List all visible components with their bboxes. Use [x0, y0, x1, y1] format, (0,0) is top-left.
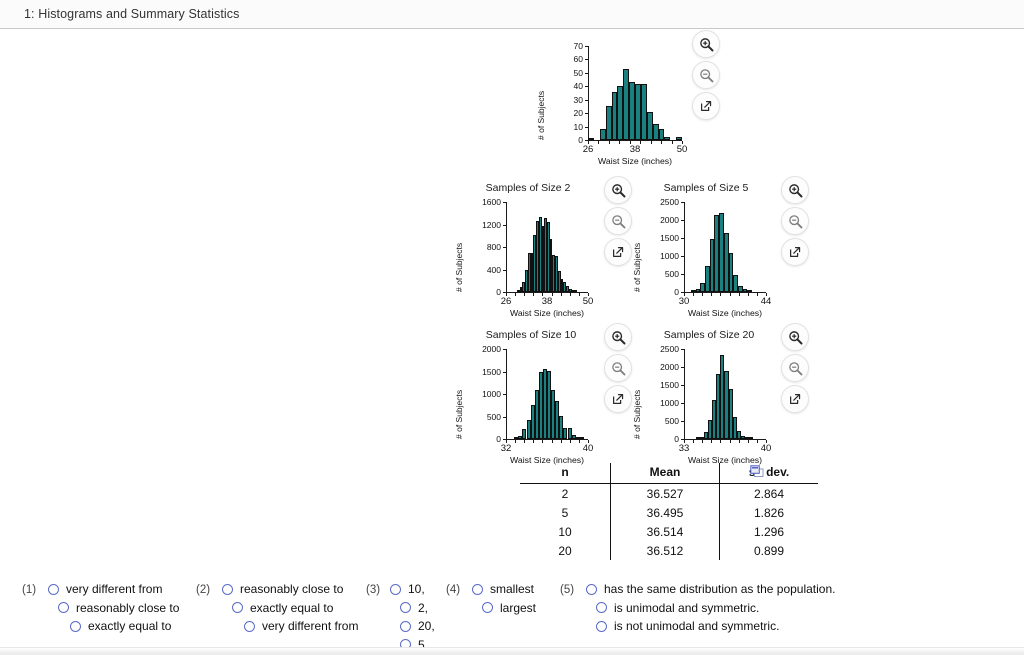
histogram-bar	[641, 84, 647, 140]
x-tick-label: 30	[679, 296, 690, 307]
cell-n: 10	[520, 522, 611, 541]
histogram-bar	[705, 266, 710, 292]
y-tick-label: 500	[642, 269, 679, 279]
chart-bars	[506, 202, 588, 292]
cell-n: 2	[520, 484, 611, 504]
x-tick	[748, 440, 749, 443]
histogram-bar	[716, 374, 720, 439]
y-tick	[585, 140, 588, 141]
y-tick-label: 20	[546, 108, 583, 118]
option-group-number: (5)	[560, 584, 574, 596]
x-axis-line	[684, 439, 766, 440]
x-tick	[506, 440, 507, 443]
option-item[interactable]: 2,	[390, 599, 435, 618]
option-label: is not unimodal and symmetric.	[614, 619, 779, 633]
radio-button[interactable]	[472, 584, 483, 595]
histogram-bar	[708, 420, 712, 439]
option-group-2: (2)reasonably close toexactly equal tove…	[196, 580, 358, 636]
y-tick	[503, 292, 506, 293]
x-axis-line	[588, 140, 682, 141]
option-item[interactable]: is not unimodal and symmetric.	[586, 617, 835, 636]
y-tick	[503, 247, 506, 248]
x-tick	[579, 293, 580, 296]
histogram-bar	[551, 390, 555, 439]
cell-mean: 36.527	[611, 484, 720, 504]
col-header-n: n	[520, 463, 611, 484]
y-tick-label: 0	[546, 135, 583, 145]
cell-n: 5	[520, 503, 611, 522]
x-tick-label: 26	[583, 144, 594, 155]
histogram-bar	[517, 290, 520, 292]
histogram-bar	[606, 106, 612, 140]
histogram-bar	[691, 290, 696, 292]
col-header-mean: Mean	[611, 463, 720, 484]
table-row: 536.4951.826	[520, 503, 818, 522]
x-tick-label: 33	[679, 443, 690, 454]
x-tick-label: 40	[583, 443, 594, 454]
option-label: smallest	[490, 582, 534, 596]
y-axis-label: # of Subjects	[454, 243, 464, 292]
chart-toolbar-samples_of_size_20	[781, 323, 809, 413]
x-tick	[515, 293, 516, 296]
x-tick	[515, 440, 516, 443]
histogram-bar	[617, 86, 623, 140]
y-tick-label: 1500	[642, 233, 679, 243]
histogram-bar	[528, 253, 531, 292]
y-tick-label: 50	[546, 68, 583, 78]
x-tick	[702, 293, 703, 296]
x-tick	[684, 293, 685, 296]
chart-bars	[684, 349, 766, 439]
option-label: very different from	[66, 582, 162, 596]
histogram-bar	[629, 82, 635, 140]
histogram-bar	[700, 437, 704, 439]
x-tick	[672, 141, 673, 144]
x-tick	[570, 293, 571, 296]
histogram-bar	[555, 256, 558, 292]
option-item[interactable]: very different from	[48, 580, 179, 599]
x-tick	[609, 141, 610, 144]
x-tick	[661, 141, 662, 144]
y-tick-label: 60	[546, 54, 583, 64]
y-tick-label: 70	[546, 41, 583, 51]
y-tick-label: 500	[642, 416, 679, 426]
radio-button[interactable]	[48, 584, 59, 595]
histogram-bar	[542, 226, 545, 292]
y-tick-label: 2500	[642, 197, 679, 207]
histogram-bar	[558, 271, 561, 292]
cell-n: 20	[520, 541, 611, 560]
option-label: reasonably close to	[76, 601, 179, 615]
popout-icon[interactable]	[781, 385, 809, 413]
option-label: 2,	[418, 601, 428, 615]
radio-button[interactable]	[232, 602, 243, 613]
x-tick	[630, 141, 631, 144]
x-tick	[598, 141, 599, 144]
x-axis-label: Waist Size (inches)	[558, 156, 712, 166]
histogram-bar	[574, 290, 577, 292]
histogram-bar	[563, 428, 567, 439]
x-tick-label: 32	[501, 443, 512, 454]
histogram-bar	[539, 372, 543, 439]
histogram-bar	[550, 239, 553, 292]
y-tick	[503, 270, 506, 271]
x-tick	[533, 440, 534, 443]
histogram-bar	[547, 371, 551, 439]
x-tick	[651, 141, 652, 144]
radio-button[interactable]	[58, 602, 69, 613]
x-tick	[766, 293, 767, 296]
option-label: 20,	[418, 619, 435, 633]
histogram-bar	[729, 389, 733, 439]
chart-title: Samples of Size 20	[640, 329, 778, 341]
option-item[interactable]: exactly equal to	[48, 617, 179, 636]
radio-button[interactable]	[482, 602, 493, 613]
option-group-number: (1)	[22, 584, 36, 596]
option-label: has the same distribution as the populat…	[604, 582, 835, 596]
x-axis-line	[506, 439, 588, 440]
option-list: smallestlargest	[472, 580, 536, 617]
y-tick	[585, 127, 588, 128]
y-tick	[585, 86, 588, 87]
x-tick	[757, 440, 758, 443]
x-tick	[533, 293, 534, 296]
option-item[interactable]: largest	[472, 599, 536, 618]
histogram-bar	[719, 213, 724, 292]
histogram-bar	[572, 435, 576, 439]
histogram-bar	[559, 416, 563, 439]
y-tick	[585, 100, 588, 101]
summary-table: n Mean st. dev. 236.5272.864536.4951.826…	[520, 463, 818, 560]
histogram-bar	[659, 129, 665, 140]
y-tick-label: 2000	[642, 362, 679, 372]
radio-button[interactable]	[222, 584, 233, 595]
y-tick-label: 0	[464, 434, 501, 444]
y-tick-label: 0	[464, 287, 501, 297]
y-tick	[503, 417, 506, 418]
option-item[interactable]: very different from	[222, 617, 358, 636]
x-tick-label: 40	[761, 443, 772, 454]
y-tick-label: 1000	[642, 251, 679, 261]
histogram-bar	[520, 287, 523, 292]
y-tick-label: 0	[642, 287, 679, 297]
y-tick-label: 1000	[464, 389, 501, 399]
x-tick	[730, 440, 731, 443]
y-tick	[503, 202, 506, 203]
y-tick-label: 2000	[464, 344, 501, 354]
option-item[interactable]: smallest	[472, 580, 536, 599]
zoom-out-icon[interactable]	[781, 354, 809, 382]
chart-samples_of_size_20: Samples of Size 200500100015002000250033…	[0, 0, 1024, 655]
option-group-number: (2)	[196, 584, 210, 596]
histogram-bar	[712, 400, 716, 439]
radio-button[interactable]	[596, 621, 607, 632]
histogram-bar	[745, 437, 749, 439]
histogram-bar	[533, 235, 536, 292]
option-group-1: (1)very different fromreasonably close t…	[22, 580, 179, 636]
histogram-bar	[561, 279, 564, 292]
chart-bars	[588, 46, 682, 140]
histogram-bar	[704, 432, 708, 439]
y-axis-line	[684, 202, 685, 292]
radio-button[interactable]	[244, 621, 255, 632]
option-label: exactly equal to	[250, 601, 333, 615]
y-tick	[503, 349, 506, 350]
histogram-bar	[738, 286, 743, 292]
cell-stdev: 1.296	[720, 522, 819, 541]
option-group-number: (3)	[366, 584, 380, 596]
popout-icon[interactable]	[781, 238, 809, 266]
zoom-out-icon[interactable]	[781, 207, 809, 235]
x-tick	[720, 440, 721, 443]
y-tick	[681, 292, 684, 293]
zoom-in-icon[interactable]	[781, 176, 809, 204]
option-list: has the same distribution as the populat…	[586, 580, 835, 636]
option-label: very different from	[262, 619, 358, 633]
y-tick	[681, 385, 684, 386]
option-group-3: (3)10,2,20,5,	[366, 580, 435, 654]
histogram-bar	[724, 233, 729, 292]
option-group-5: (5)has the same distribution as the popu…	[560, 580, 835, 636]
y-tick-label: 1500	[642, 380, 679, 390]
x-axis-label: Waist Size (inches)	[476, 308, 618, 318]
x-tick	[757, 293, 758, 296]
y-tick	[585, 113, 588, 114]
zoom-in-icon[interactable]	[604, 323, 632, 351]
histogram-bar	[566, 286, 569, 292]
summary-table-grid: n Mean st. dev. 236.5272.864536.4951.826…	[520, 463, 818, 560]
histogram-bar	[535, 390, 539, 439]
copy-icon[interactable]	[750, 465, 764, 478]
x-tick	[588, 440, 589, 443]
y-tick-label: 1000	[642, 398, 679, 408]
y-tick	[503, 439, 506, 440]
histogram-bar	[544, 218, 547, 292]
radio-button[interactable]	[400, 602, 411, 613]
popout-icon[interactable]	[604, 385, 632, 413]
option-list: very different fromreasonably close toex…	[48, 580, 179, 636]
summary-table-head: n Mean st. dev.	[520, 463, 818, 484]
radio-button[interactable]	[586, 584, 597, 595]
x-tick	[506, 293, 507, 296]
option-item[interactable]: 20,	[390, 617, 435, 636]
x-tick	[730, 293, 731, 296]
x-tick-label: 38	[542, 296, 553, 307]
x-tick	[524, 440, 525, 443]
chart-title: Samples of Size 5	[640, 182, 772, 194]
y-tick-label: 1200	[464, 220, 501, 230]
histogram-bar	[737, 431, 741, 439]
popout-icon[interactable]	[604, 238, 632, 266]
table-header-row: n Mean st. dev.	[520, 463, 818, 484]
histogram-bar	[514, 437, 518, 439]
popout-icon[interactable]	[692, 92, 720, 120]
histogram-bar	[743, 289, 748, 292]
x-axis-label: Waist Size (inches)	[654, 308, 796, 318]
histogram-bar	[568, 428, 572, 439]
y-tick	[681, 349, 684, 350]
x-tick	[542, 293, 543, 296]
histogram-bar	[710, 239, 715, 292]
x-tick	[702, 440, 703, 443]
y-tick-label: 500	[464, 412, 501, 422]
x-tick-label: 44	[761, 296, 772, 307]
histogram-bar	[552, 255, 555, 292]
histogram-bar	[531, 405, 535, 439]
option-label: exactly equal to	[88, 619, 171, 633]
header-bar: 1: Histograms and Summary Statistics	[0, 0, 1024, 29]
zoom-in-icon[interactable]	[781, 323, 809, 351]
x-tick	[711, 293, 712, 296]
x-tick	[542, 440, 543, 443]
histogram-bar	[647, 112, 653, 140]
page-root: 1: Histograms and Summary Statistics 010…	[0, 0, 1024, 655]
histogram-bar	[543, 369, 547, 439]
x-tick	[748, 293, 749, 296]
y-tick	[681, 202, 684, 203]
histogram-bar	[696, 289, 701, 292]
option-label: is unimodal and symmetric.	[614, 601, 759, 615]
x-tick-label: 50	[583, 296, 594, 307]
radio-button[interactable]	[70, 621, 81, 632]
y-tick	[681, 256, 684, 257]
x-tick	[682, 141, 683, 144]
radio-button[interactable]	[596, 602, 607, 613]
x-tick	[552, 440, 553, 443]
page-title: 1: Histograms and Summary Statistics	[24, 7, 239, 21]
zoom-out-icon[interactable]	[692, 61, 720, 89]
histogram-bar	[576, 437, 580, 439]
y-tick	[681, 421, 684, 422]
histogram-bar	[569, 289, 572, 292]
col-header-stdev: st. dev.	[720, 463, 819, 484]
x-tick	[561, 293, 562, 296]
x-axis-line	[506, 292, 588, 293]
option-list: 10,2,20,5,	[390, 580, 435, 654]
x-tick	[561, 440, 562, 443]
x-tick	[552, 293, 553, 296]
cell-stdev: 2.864	[720, 484, 819, 504]
histogram-bar	[531, 253, 534, 292]
y-tick	[681, 220, 684, 221]
y-tick	[503, 225, 506, 226]
option-item[interactable]: is unimodal and symmetric.	[586, 599, 835, 618]
histogram-bar	[635, 84, 641, 140]
y-tick-label: 400	[464, 265, 501, 275]
y-tick-label: 2500	[642, 344, 679, 354]
histogram-bar	[729, 253, 734, 292]
y-tick-label: 0	[642, 434, 679, 444]
y-tick-label: 40	[546, 81, 583, 91]
y-tick-label: 1500	[464, 367, 501, 377]
x-tick	[684, 440, 685, 443]
histogram-bar	[588, 138, 594, 140]
x-tick-label: 26	[501, 296, 512, 307]
histogram-bar	[747, 290, 752, 292]
zoom-out-icon[interactable]	[604, 207, 632, 235]
histogram-bar	[522, 282, 525, 292]
histogram-bar	[580, 437, 584, 439]
y-axis-label: # of Subjects	[454, 390, 464, 439]
chart-samples_of_size_2: Samples of Size 2040080012001600263850# …	[0, 0, 1024, 655]
option-item[interactable]: reasonably close to	[48, 599, 179, 618]
option-item[interactable]: 10,	[390, 580, 435, 599]
histogram-bar	[536, 221, 539, 292]
y-tick	[681, 367, 684, 368]
table-row: 1036.5141.296	[520, 522, 818, 541]
chart-bars	[506, 349, 588, 439]
y-tick	[681, 238, 684, 239]
histogram-bar	[741, 436, 745, 439]
x-tick-label: 50	[677, 144, 688, 155]
chart-bars	[684, 202, 766, 292]
option-group-number: (4)	[446, 584, 460, 596]
cell-mean: 36.514	[611, 522, 720, 541]
cell-mean: 36.495	[611, 503, 720, 522]
x-tick	[619, 141, 620, 144]
histogram-bar	[623, 69, 629, 140]
option-item[interactable]: exactly equal to	[222, 599, 358, 618]
option-label: largest	[500, 601, 536, 615]
zoom-in-icon[interactable]	[604, 176, 632, 204]
zoom-in-icon[interactable]	[692, 30, 720, 58]
x-tick	[579, 440, 580, 443]
y-tick	[503, 372, 506, 373]
option-list: reasonably close toexactly equal tovery …	[222, 580, 358, 636]
y-tick	[681, 274, 684, 275]
histogram-bar	[522, 429, 526, 439]
chart-samples_of_size_10: Samples of Size 1005001000150020003240# …	[0, 0, 1024, 655]
histogram-bar	[676, 137, 682, 140]
y-axis-line	[588, 46, 589, 140]
histogram-bar	[749, 437, 753, 439]
chart-population: 010203040506070263850# of SubjectsWaist …	[0, 0, 1024, 655]
radio-button[interactable]	[400, 621, 411, 632]
option-item[interactable]: reasonably close to	[222, 580, 358, 599]
y-tick	[681, 439, 684, 440]
y-tick-label: 800	[464, 242, 501, 252]
y-tick-label: 1600	[464, 197, 501, 207]
summary-table-body: 236.5272.864536.4951.8261036.5141.296203…	[520, 484, 818, 561]
histogram-bar	[724, 371, 728, 439]
x-tick	[640, 141, 641, 144]
histogram-bar	[733, 275, 738, 292]
histogram-bar	[720, 355, 724, 439]
y-tick	[503, 394, 506, 395]
radio-button[interactable]	[390, 584, 401, 595]
cell-stdev: 0.899	[720, 541, 819, 560]
bottom-strip	[0, 647, 1024, 655]
option-item[interactable]: has the same distribution as the populat…	[586, 580, 835, 599]
x-tick	[588, 293, 589, 296]
histogram-bar	[696, 437, 700, 439]
x-tick	[570, 440, 571, 443]
option-label: reasonably close to	[240, 582, 343, 596]
y-tick-label: 2000	[642, 215, 679, 225]
histogram-bar	[518, 436, 522, 439]
histogram-bar	[600, 129, 606, 140]
table-row: 236.5272.864	[520, 484, 818, 504]
x-tick	[588, 141, 589, 144]
histogram-bar	[555, 401, 559, 439]
y-tick	[681, 403, 684, 404]
histogram-bar	[653, 124, 659, 140]
zoom-out-icon[interactable]	[604, 354, 632, 382]
x-tick-label: 38	[630, 144, 641, 155]
histogram-bar	[572, 290, 575, 292]
y-tick	[585, 59, 588, 60]
histogram-bar	[733, 417, 737, 439]
